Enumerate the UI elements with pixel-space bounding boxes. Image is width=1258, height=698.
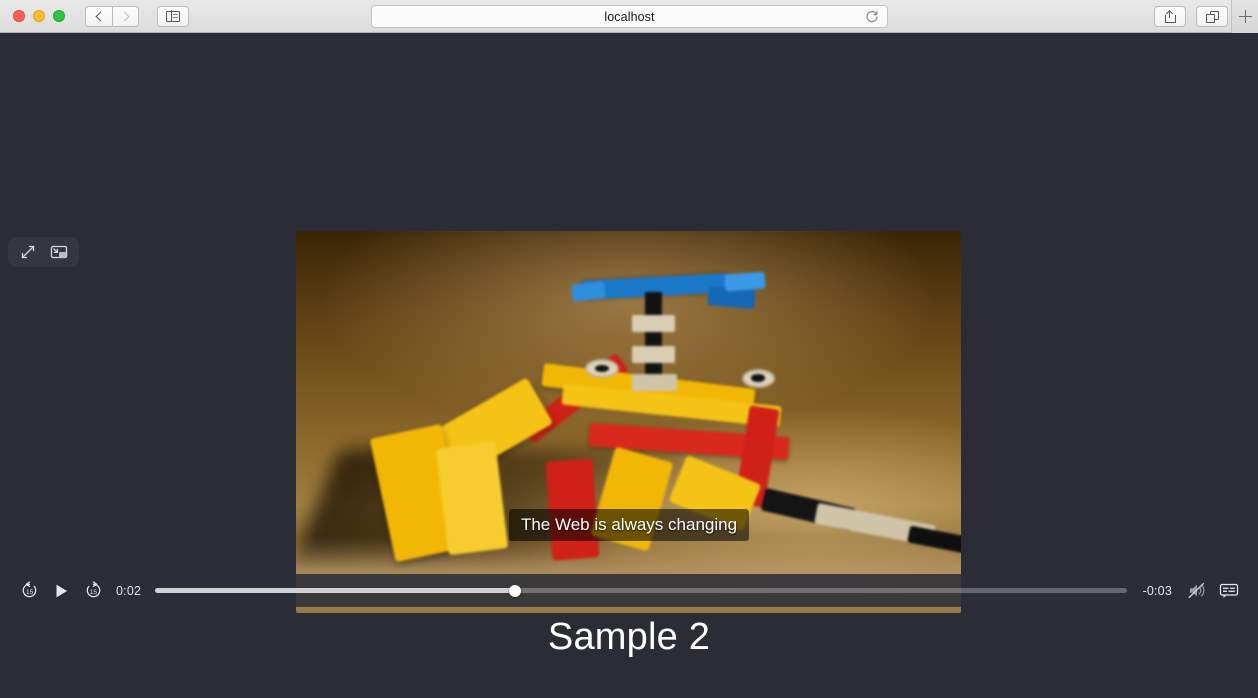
page-title: Sample 2 bbox=[0, 616, 1258, 659]
tab-overview-button[interactable] bbox=[1196, 6, 1228, 27]
svg-text:15: 15 bbox=[89, 589, 97, 596]
svg-text:15: 15 bbox=[26, 589, 34, 596]
toolbar-right-buttons bbox=[1154, 6, 1228, 27]
video-controls-bar: 15 15 0:02 -0:03 bbox=[8, 574, 1250, 607]
progress-thumb[interactable] bbox=[509, 585, 521, 597]
progress-scrubber[interactable] bbox=[155, 588, 1126, 593]
video-player[interactable] bbox=[296, 231, 961, 613]
sidebar-icon bbox=[166, 11, 180, 22]
share-icon bbox=[1165, 10, 1176, 23]
window-traffic-lights bbox=[13, 10, 65, 22]
skip-back-15-button[interactable]: 15 bbox=[18, 580, 40, 602]
address-bar[interactable]: localhost bbox=[371, 5, 888, 28]
back-button[interactable] bbox=[85, 6, 112, 27]
picture-in-picture-button[interactable] bbox=[49, 243, 70, 261]
navigation-buttons bbox=[85, 6, 139, 27]
reload-icon[interactable] bbox=[865, 10, 879, 24]
forward-button[interactable] bbox=[112, 6, 139, 27]
mute-button[interactable] bbox=[1186, 580, 1208, 602]
minimize-window-button[interactable] bbox=[33, 10, 45, 22]
progress-filled bbox=[155, 588, 514, 593]
current-time-label: 0:02 bbox=[116, 584, 141, 598]
chevron-right-icon bbox=[119, 11, 129, 21]
video-caption: The Web is always changing bbox=[509, 509, 749, 541]
floating-media-panel bbox=[8, 237, 79, 267]
new-tab-button[interactable] bbox=[1231, 0, 1258, 33]
zoom-window-button[interactable] bbox=[53, 10, 65, 22]
video-frame-blur bbox=[296, 231, 961, 613]
sidebar-toggle-button[interactable] bbox=[157, 6, 189, 27]
tab-overview-icon bbox=[1206, 11, 1219, 23]
remaining-time-label: -0:03 bbox=[1143, 584, 1173, 598]
browser-toolbar: localhost bbox=[0, 0, 1258, 33]
page-content: The Web is always changing 15 15 0:02 bbox=[0, 33, 1258, 698]
close-window-button[interactable] bbox=[13, 10, 25, 22]
chevron-left-icon bbox=[96, 11, 106, 21]
skip-forward-15-button[interactable]: 15 bbox=[82, 580, 104, 602]
play-button[interactable] bbox=[50, 580, 72, 602]
address-bar-text: localhost bbox=[604, 10, 654, 24]
share-button[interactable] bbox=[1154, 6, 1186, 27]
fullscreen-button[interactable] bbox=[17, 243, 38, 261]
captions-button[interactable] bbox=[1218, 580, 1240, 602]
plus-icon bbox=[1239, 10, 1252, 23]
